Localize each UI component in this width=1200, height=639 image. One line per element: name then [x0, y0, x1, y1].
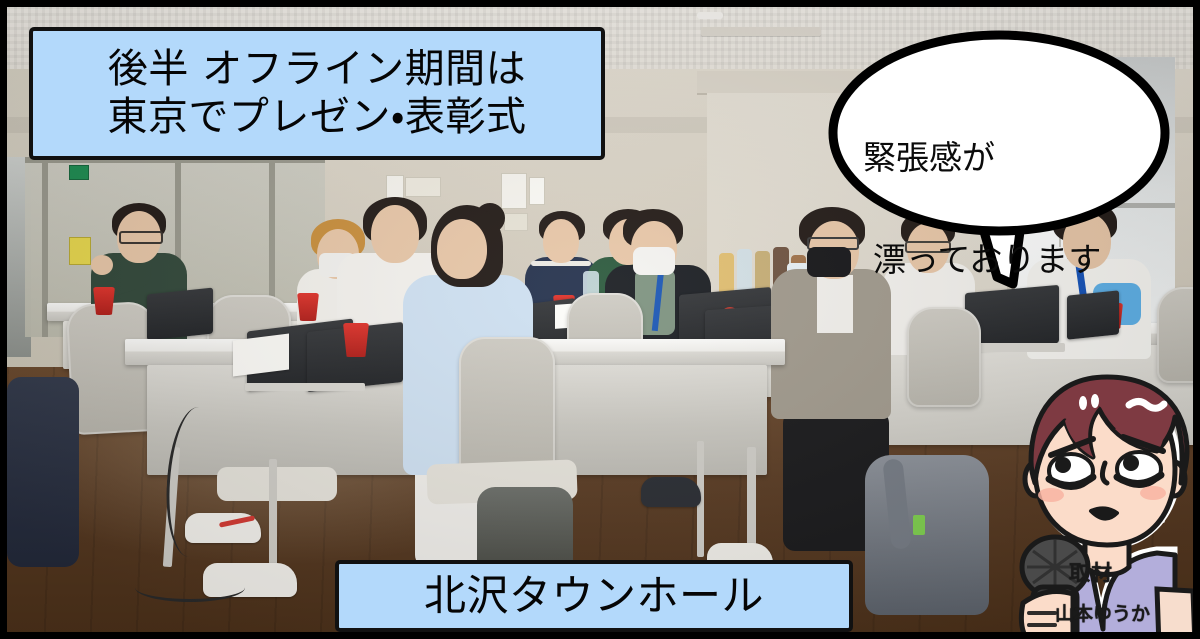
wall-poster	[405, 177, 441, 197]
reporter-role-label: 取材	[1069, 557, 1113, 587]
ceiling-vent	[701, 27, 821, 36]
exit-sign-icon	[69, 165, 89, 180]
backpack	[7, 377, 79, 567]
sneaker	[641, 477, 701, 507]
wall-poster	[504, 213, 528, 231]
red-cup	[297, 293, 319, 321]
backpack-tag	[913, 515, 925, 535]
wall-poster	[501, 173, 527, 209]
avatar-cheek	[1038, 488, 1064, 502]
manga-panel: 緊張感が 漂っております 後半 オフライン期間は 東京でプレゼン・表彰式 北沢タ…	[0, 0, 1200, 639]
avatar-pupil	[1123, 455, 1139, 471]
laptop-base	[245, 383, 365, 391]
red-cup	[93, 287, 115, 315]
laptop	[147, 288, 213, 341]
caption-bottom-venue: 北沢タウンホール	[335, 560, 853, 632]
avatar-pupil	[1055, 457, 1071, 473]
avatar-arm	[1157, 589, 1193, 632]
name-placard	[233, 334, 289, 377]
power-cable	[135, 573, 245, 602]
blind-cord	[1049, 57, 1051, 227]
chair-seat	[217, 467, 337, 501]
avatar-cheek	[1140, 486, 1166, 500]
wall-poster	[529, 177, 545, 205]
laptop	[1067, 290, 1119, 339]
face-mask	[633, 247, 675, 275]
blind-housing	[697, 71, 1027, 95]
face-mask	[807, 247, 851, 277]
red-cup	[343, 323, 369, 357]
eyeglasses	[119, 231, 163, 244]
hair-highlight	[1091, 394, 1099, 408]
caption-top: 後半 オフライン期間は 東京でプレゼン・表彰式	[29, 27, 605, 160]
hair-highlight	[1079, 396, 1087, 410]
reporter-name-label: 山本ゆうか	[1055, 599, 1150, 626]
wall-notice	[69, 237, 91, 265]
reporter-illustration	[1007, 359, 1193, 632]
table-leg	[269, 459, 277, 575]
panel-stage: 緊張感が 漂っております 後半 オフライン期間は 東京でプレゼン・表彰式 北沢タ…	[7, 7, 1193, 632]
wall-poster	[386, 175, 404, 199]
reporter-avatar: 取材 山本ゆうか	[1007, 359, 1193, 632]
ceiling-light	[697, 12, 723, 19]
eyeglasses	[905, 241, 951, 253]
office-chair	[907, 307, 981, 407]
